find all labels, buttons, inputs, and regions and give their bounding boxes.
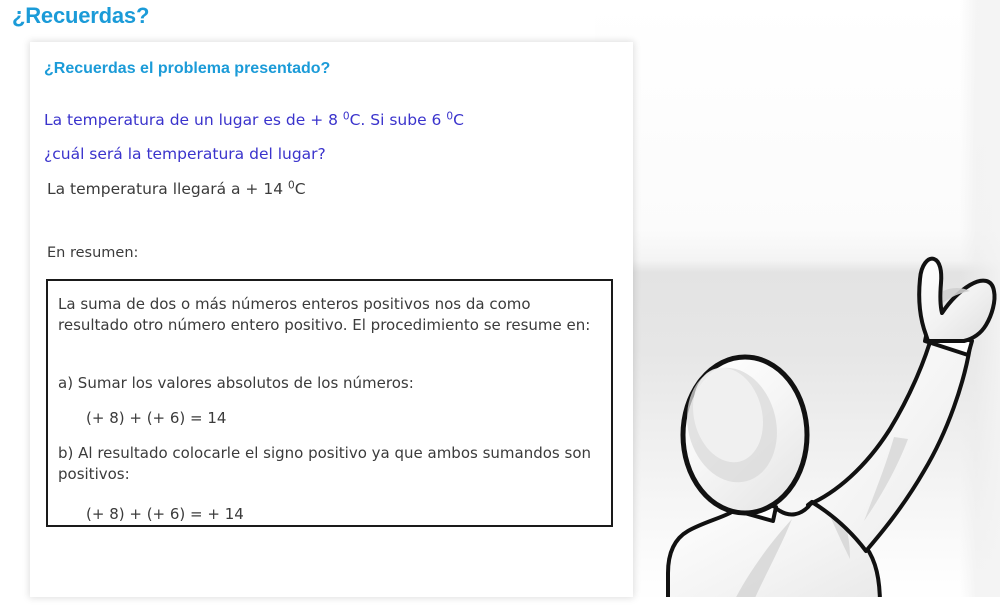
head-highlight <box>683 360 772 470</box>
answer-part-a: La temperatura llegará a + 14 <box>47 180 288 198</box>
card-heading: ¿Recuerdas el problema presentado? <box>44 60 330 78</box>
degree-superscript-3: 0 <box>288 180 295 192</box>
illustration-person-raising-hand <box>640 243 1000 605</box>
degree-superscript-1: 0 <box>343 111 350 123</box>
arm-shadow <box>864 437 908 521</box>
raised-arm-shape <box>808 335 970 551</box>
torso-shape <box>668 493 880 605</box>
background-gradient-band <box>595 0 1000 605</box>
hand-thumb-shadow <box>943 288 970 303</box>
summary-step-a: a) Sumar los valores absolutos de los nú… <box>58 373 603 394</box>
summary-box: La suma de dos o más números enteros pos… <box>46 279 613 527</box>
problem-line1-part-b: C. Si sube 6 <box>350 111 447 129</box>
person-raising-hand-icon <box>640 243 1000 605</box>
head-shape <box>683 357 807 513</box>
summary-equation-a: (+ 8) + (+ 6) = 14 <box>86 408 631 429</box>
summary-label: En resumen: <box>47 245 138 261</box>
problem-statement-line-2: ¿cuál será la temperatura del lugar? <box>44 145 326 163</box>
neck-collar <box>730 495 776 521</box>
hand-pointing-up <box>919 259 994 341</box>
page-title: ¿Recuerdas? <box>12 3 149 29</box>
head-shadow <box>675 358 788 492</box>
arm-fold-shadow <box>826 498 850 559</box>
summary-equation-b: (+ 8) + (+ 6) = + 14 <box>86 504 631 525</box>
problem-statement-line-1: La temperatura de un lugar es de + 8 0C.… <box>44 111 464 129</box>
page-root: ¿Recuerdas? <box>0 0 1000 605</box>
summary-step-b: b) Al resultado colocarle el signo posit… <box>58 443 603 485</box>
problem-line1-part-a: La temperatura de un lugar es de + 8 <box>44 111 343 129</box>
content-card: ¿Recuerdas el problema presentado? La te… <box>30 42 633 597</box>
torso-shadow <box>732 519 792 605</box>
problem-line1-part-c: C <box>453 111 464 129</box>
summary-intro-paragraph: La suma de dos o más números enteros pos… <box>58 294 603 336</box>
sleeve-cuff <box>925 327 972 355</box>
background-gradient-right-edge <box>960 0 1000 605</box>
answer-part-b: C <box>295 180 306 198</box>
bottom-white-strip <box>0 597 1000 605</box>
answer-statement: La temperatura llegará a + 14 0C <box>47 180 306 198</box>
